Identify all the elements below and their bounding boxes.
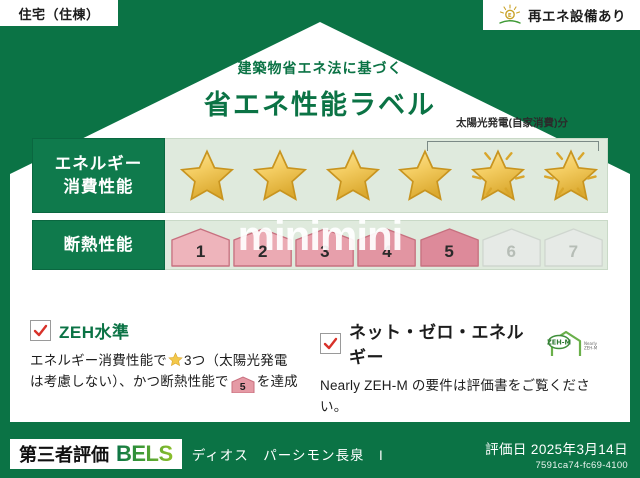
zeh-body-part1: エネルギー消費性能で (30, 353, 167, 368)
solar-note-label: 太陽光発電(自家消費)分 (423, 115, 601, 130)
insulation-cell-value: 4 (382, 242, 391, 262)
energy-stars-body: 太陽光発電(自家消費)分 (165, 138, 608, 213)
insulation-label: 断熱性能 (32, 220, 165, 270)
star-1 (171, 143, 244, 209)
insulation-cell-value: 1 (196, 242, 205, 262)
zeh-standard-body: エネルギー消費性能で3つ（太陽光発電は考慮しない）、かつ断熱性能で5を達成 (30, 351, 308, 393)
insulation-cell-3: 3 (295, 227, 354, 267)
star-icon (468, 147, 528, 205)
performance-rows: エネルギー 消費性能 太陽光発電(自家消費)分 断熱性能 1234567 (32, 138, 608, 270)
insulation-cell-6: 6 (482, 227, 541, 267)
energy-label-line2: 消費性能 (64, 176, 134, 198)
footer-bar: 第三者評価 BELS ディオス パーシモン長泉 I 評価日 2025年3月14日… (0, 430, 640, 478)
sun-renewable-icon: E (497, 4, 523, 26)
insulation-cell-value: 2 (258, 242, 267, 262)
svg-text:ZEH-M: ZEH-M (547, 339, 571, 347)
insulation-cell-7: 7 (544, 227, 603, 267)
housing-type-label: 住宅（住棟） (18, 4, 99, 23)
insulation-scale: 1234567 (165, 221, 607, 269)
star-2 (244, 143, 317, 209)
star-5 (462, 143, 535, 209)
insulation-label-text: 断熱性能 (64, 234, 134, 256)
net-zero-checkbox[interactable] (320, 333, 341, 354)
insulation-scale-body: 1234567 (165, 220, 608, 270)
bels-en-label: BELS (116, 441, 173, 467)
zeh-body-part4: を達成 (257, 374, 298, 389)
zeh-standard-checkbox[interactable] (30, 320, 51, 341)
energy-label-line1: エネルギー (55, 153, 143, 175)
insulation-cell-4: 4 (357, 227, 416, 267)
energy-consumption-row: エネルギー 消費性能 太陽光発電(自家消費)分 (32, 138, 608, 213)
insulation-cell-value: 6 (507, 242, 516, 262)
inline-house-value: 5 (240, 381, 246, 393)
insulation-cell-1: 1 (171, 227, 230, 267)
star-icon (323, 147, 383, 205)
insulation-cell-value: 3 (320, 242, 329, 262)
insulation-cell-value: 5 (444, 242, 453, 262)
inline-house-badge: 5 (231, 376, 255, 393)
zeh-standard-header: ZEH水準 (30, 318, 308, 343)
criterion-zeh-standard: ZEH水準 エネルギー消費性能で3つ（太陽光発電は考慮しない）、かつ断熱性能で5… (30, 318, 320, 418)
zeh-standard-title: ZEH水準 (59, 318, 130, 343)
evaluation-info: 評価日 2025年3月14日 7591ca74-fc69-4100 (485, 438, 628, 471)
energy-consumption-label: エネルギー 消費性能 (32, 138, 165, 213)
renewable-equipment-tag: E 再エネ設備あり (483, 0, 640, 30)
net-zero-title: ネット・ゼロ・エネルギー (349, 318, 536, 368)
renewable-equipment-label: 再エネ設備あり (528, 5, 626, 25)
criteria-section: ZEH水準 エネルギー消費性能で3つ（太陽光発電は考慮しない）、かつ断熱性能で5… (30, 318, 610, 418)
housing-type-tag: 住宅（住棟） (0, 0, 118, 26)
check-icon (323, 336, 338, 351)
star-3 (316, 143, 389, 209)
energy-performance-label: 住宅（住棟） E 再エネ設備あり 建築物省エネ法に基づく 省エネ性能ラベル (0, 0, 640, 478)
zeh-m-logo-icon: ZEH-M Nearly ZEH-M (546, 328, 598, 358)
building-name: ディオス パーシモン長泉 I (192, 444, 384, 464)
insulation-cell-value: 7 (569, 242, 578, 262)
criterion-net-zero-energy: ネット・ゼロ・エネルギー ZEH-M Nearly ZEH-M Nearly Z… (320, 318, 610, 418)
star-icon (250, 147, 310, 205)
star-4 (389, 143, 462, 209)
bels-jp-label: 第三者評価 (19, 441, 109, 467)
evaluation-id: 7591ca74-fc69-4100 (485, 460, 628, 471)
zeh-body-part3: は考慮しない）、かつ断熱性能で (30, 374, 229, 389)
star-rating (165, 139, 607, 212)
net-zero-header: ネット・ゼロ・エネルギー ZEH-M Nearly ZEH-M (320, 318, 598, 368)
inline-star-icon (168, 352, 183, 367)
star-icon (395, 147, 455, 205)
star-icon (177, 147, 237, 205)
insulation-row: 断熱性能 1234567 (32, 220, 608, 270)
title-block: 建築物省エネ法に基づく 省エネ性能ラベル (0, 58, 640, 122)
title-subtitle: 建築物省エネ法に基づく (0, 58, 640, 78)
svg-text:ZEH-M: ZEH-M (584, 346, 598, 351)
zeh-body-part2: 3つ（太陽光発電 (184, 353, 288, 368)
insulation-cell-5: 5 (420, 227, 479, 267)
evaluation-date: 評価日 2025年3月14日 (485, 438, 628, 458)
check-icon (33, 323, 48, 338)
star-6 (534, 143, 607, 209)
insulation-cell-2: 2 (233, 227, 292, 267)
star-icon (541, 147, 601, 205)
bels-badge: 第三者評価 BELS (10, 439, 182, 469)
svg-text:E: E (508, 13, 512, 19)
net-zero-body: Nearly ZEH-M の要件は評価書をご覧ください。 (320, 376, 598, 418)
